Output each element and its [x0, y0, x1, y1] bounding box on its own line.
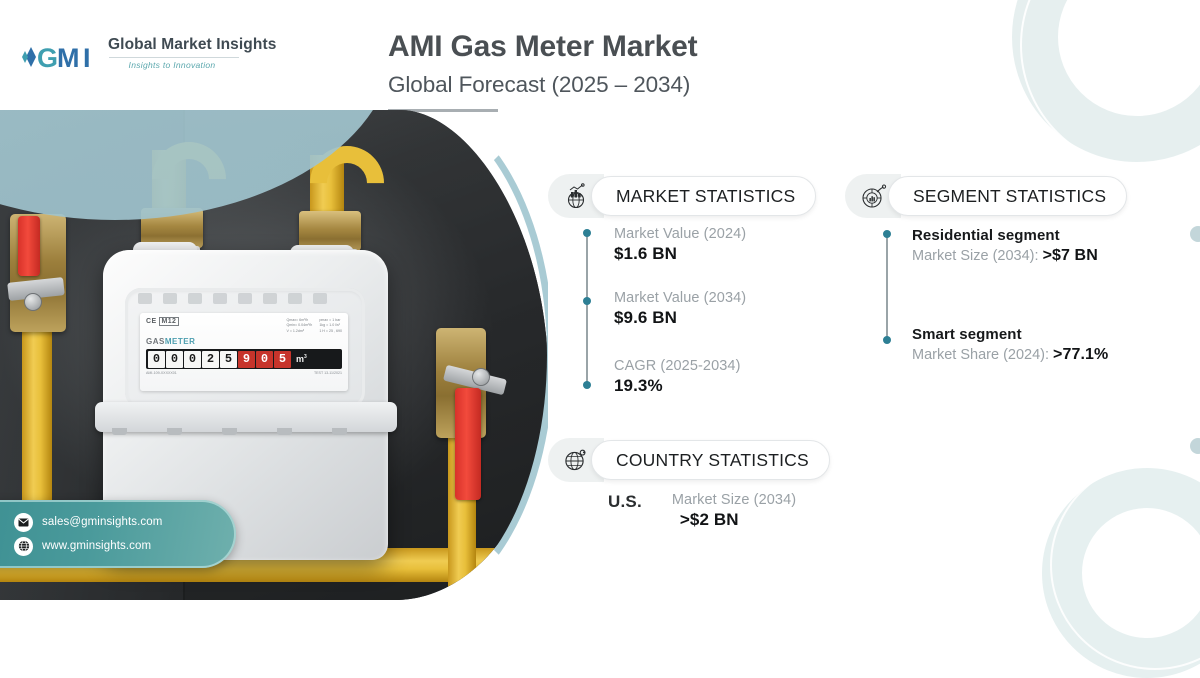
band-notch [167, 428, 182, 435]
stat-value: $9.6 BN [614, 308, 746, 328]
meter-ce-text: CE [146, 318, 157, 325]
segment-metric: Market Share (2024): >77.1% [912, 346, 1108, 364]
svg-text:M: M [57, 43, 80, 73]
stat-label: Market Size (2034) [672, 492, 796, 508]
valve-right-handle [455, 388, 481, 500]
segment-metric: Market Size (2034): >$7 BN [912, 247, 1098, 265]
stat-value: 19.3% [614, 376, 741, 396]
decor-ring-top-right [1012, 0, 1200, 162]
stat-market-value-2034: Market Value (2034) $9.6 BN [614, 290, 746, 328]
gas-meter-band-notches [112, 428, 382, 435]
decor-ring-bottom-right-inner [1050, 460, 1200, 670]
vent [188, 293, 202, 304]
country-name: U.S. [608, 492, 642, 512]
market-statistics-heading: MARKET STATISTICS [616, 186, 795, 207]
page-title: AMI Gas Meter Market [388, 30, 697, 64]
segment-metric-label: Market Size (2034): [912, 248, 1043, 264]
band-notch [222, 428, 237, 435]
svg-text:G: G [37, 43, 58, 73]
stat-value: >$2 BN [680, 510, 796, 530]
meter-spec-block: Qmax= 6m³/h Qmin= 0.04m³/h V = 1.2dm³ pm… [286, 318, 342, 334]
contact-email-text: sales@gminsights.com [42, 516, 162, 528]
band-notch [332, 428, 347, 435]
segment-title: Smart segment [912, 326, 1108, 343]
svg-text:I: I [83, 43, 91, 73]
stat-cagr: CAGR (2025-2034) 19.3% [614, 358, 741, 396]
segment-metric-value: >77.1% [1053, 346, 1108, 363]
meter-test-date: TEST 13-11/2021 [314, 371, 342, 375]
meter-brand-text: GASMETER [146, 337, 342, 346]
contact-pill: sales@gminsights.com www.gminsights.com [0, 500, 236, 568]
country-statistics-row: U.S. Market Size (2034) >$2 BN [608, 492, 796, 530]
country-statistics-header: COUNTRY STATISTICS [548, 438, 830, 482]
country-stat: Market Size (2034) >$2 BN [672, 492, 796, 530]
meter-spec-right: pmax = 1 bar 1kg = 1.0 l/s² 1 H = 25 , 6… [319, 318, 342, 334]
decor-dot-lower [1190, 438, 1200, 454]
odometer-digit-decimal: 0 [256, 351, 273, 368]
contact-website-row[interactable]: www.gminsights.com [14, 537, 236, 556]
odometer-digit: 2 [202, 351, 219, 368]
stat-label: Market Value (2024) [614, 226, 746, 242]
odometer-digit-decimal: 5 [274, 351, 291, 368]
vent [163, 293, 177, 304]
odometer-digit: 0 [166, 351, 183, 368]
page-subtitle: Global Forecast (2025 – 2034) [388, 72, 697, 98]
market-statistics-pill: MARKET STATISTICS [591, 176, 816, 216]
segment-residential: Residential segment Market Size (2034): … [912, 227, 1098, 265]
vent [138, 293, 152, 304]
logo-company-name: Global Market Insights [108, 36, 276, 54]
timeline-dot [883, 230, 891, 238]
country-statistics-pill: COUNTRY STATISTICS [591, 440, 830, 480]
segment-title: Residential segment [912, 227, 1098, 244]
meter-mid-mark: M12 [159, 317, 180, 326]
valve-left-bolt [24, 293, 42, 311]
band-notch [112, 428, 127, 435]
decor-dot-upper [1190, 226, 1200, 242]
odometer-unit: m3 [296, 354, 307, 364]
segment-metric-value: >$7 BN [1043, 247, 1098, 264]
stat-label: CAGR (2025-2034) [614, 358, 741, 374]
segment-statistics-pill: SEGMENT STATISTICS [888, 176, 1127, 216]
gas-meter-odometer: 0 0 0 2 5 9 0 5 m3 [146, 349, 342, 369]
meter-spec-left: Qmax= 6m³/h Qmin= 0.04m³/h V = 1.2dm³ [286, 318, 312, 334]
stat-label: Market Value (2034) [614, 290, 746, 306]
country-statistics-heading: COUNTRY STATISTICS [616, 450, 809, 471]
decor-ring-top-right-inner [1020, 0, 1200, 170]
contact-website-text: www.gminsights.com [42, 540, 151, 552]
meter-serial: AMI-109-XXXXX01 [146, 371, 177, 375]
market-statistics-timeline [586, 233, 588, 385]
page-title-block: AMI Gas Meter Market Global Forecast (20… [388, 30, 697, 112]
envelope-icon [14, 513, 33, 532]
odometer-digit: 0 [184, 351, 201, 368]
segment-statistics-header: SEGMENT STATISTICS [845, 174, 1127, 218]
meter-footer-marks: AMI-109-XXXXX01 TEST 13-11/2021 [146, 371, 342, 375]
vent [313, 293, 327, 304]
segment-statistics-timeline [886, 234, 888, 340]
timeline-dot [583, 297, 591, 305]
vent [238, 293, 252, 304]
globe-icon [14, 537, 33, 556]
odometer-digit-decimal: 9 [238, 351, 255, 368]
segment-smart: Smart segment Market Share (2024): >77.1… [912, 326, 1108, 364]
company-logo[interactable]: G M I Global Market Insights Insights to… [20, 36, 250, 82]
gmi-logo-mark-icon: G M I [20, 40, 104, 79]
logo-divider [109, 57, 239, 58]
odometer-digit: 0 [148, 351, 165, 368]
timeline-dot [583, 381, 591, 389]
band-notch [277, 428, 292, 435]
odometer-digit: 5 [220, 351, 237, 368]
valve-right-bolt [472, 368, 490, 386]
segment-statistics-heading: SEGMENT STATISTICS [913, 186, 1106, 207]
vent [263, 293, 277, 304]
decor-ring-bottom-right [1042, 468, 1200, 678]
market-statistics-header: MARKET STATISTICS [548, 174, 816, 218]
gas-meter-vents [138, 293, 354, 307]
meter-ce-mark: CEM12 [146, 318, 179, 325]
contact-email-row[interactable]: sales@gminsights.com [14, 513, 236, 532]
stat-market-value-2024: Market Value (2024) $1.6 BN [614, 226, 746, 264]
timeline-dot [583, 229, 591, 237]
timeline-dot [883, 336, 891, 344]
gas-meter-label-plate: CEM12 Qmax= 6m³/h Qmin= 0.04m³/h V = 1.2… [140, 313, 348, 391]
logo-tagline: Insights to Innovation [108, 60, 236, 70]
vent [288, 293, 302, 304]
segment-metric-label: Market Share (2024): [912, 347, 1053, 363]
stat-value: $1.6 BN [614, 244, 746, 264]
valve-left-handle [18, 216, 40, 276]
vent [213, 293, 227, 304]
